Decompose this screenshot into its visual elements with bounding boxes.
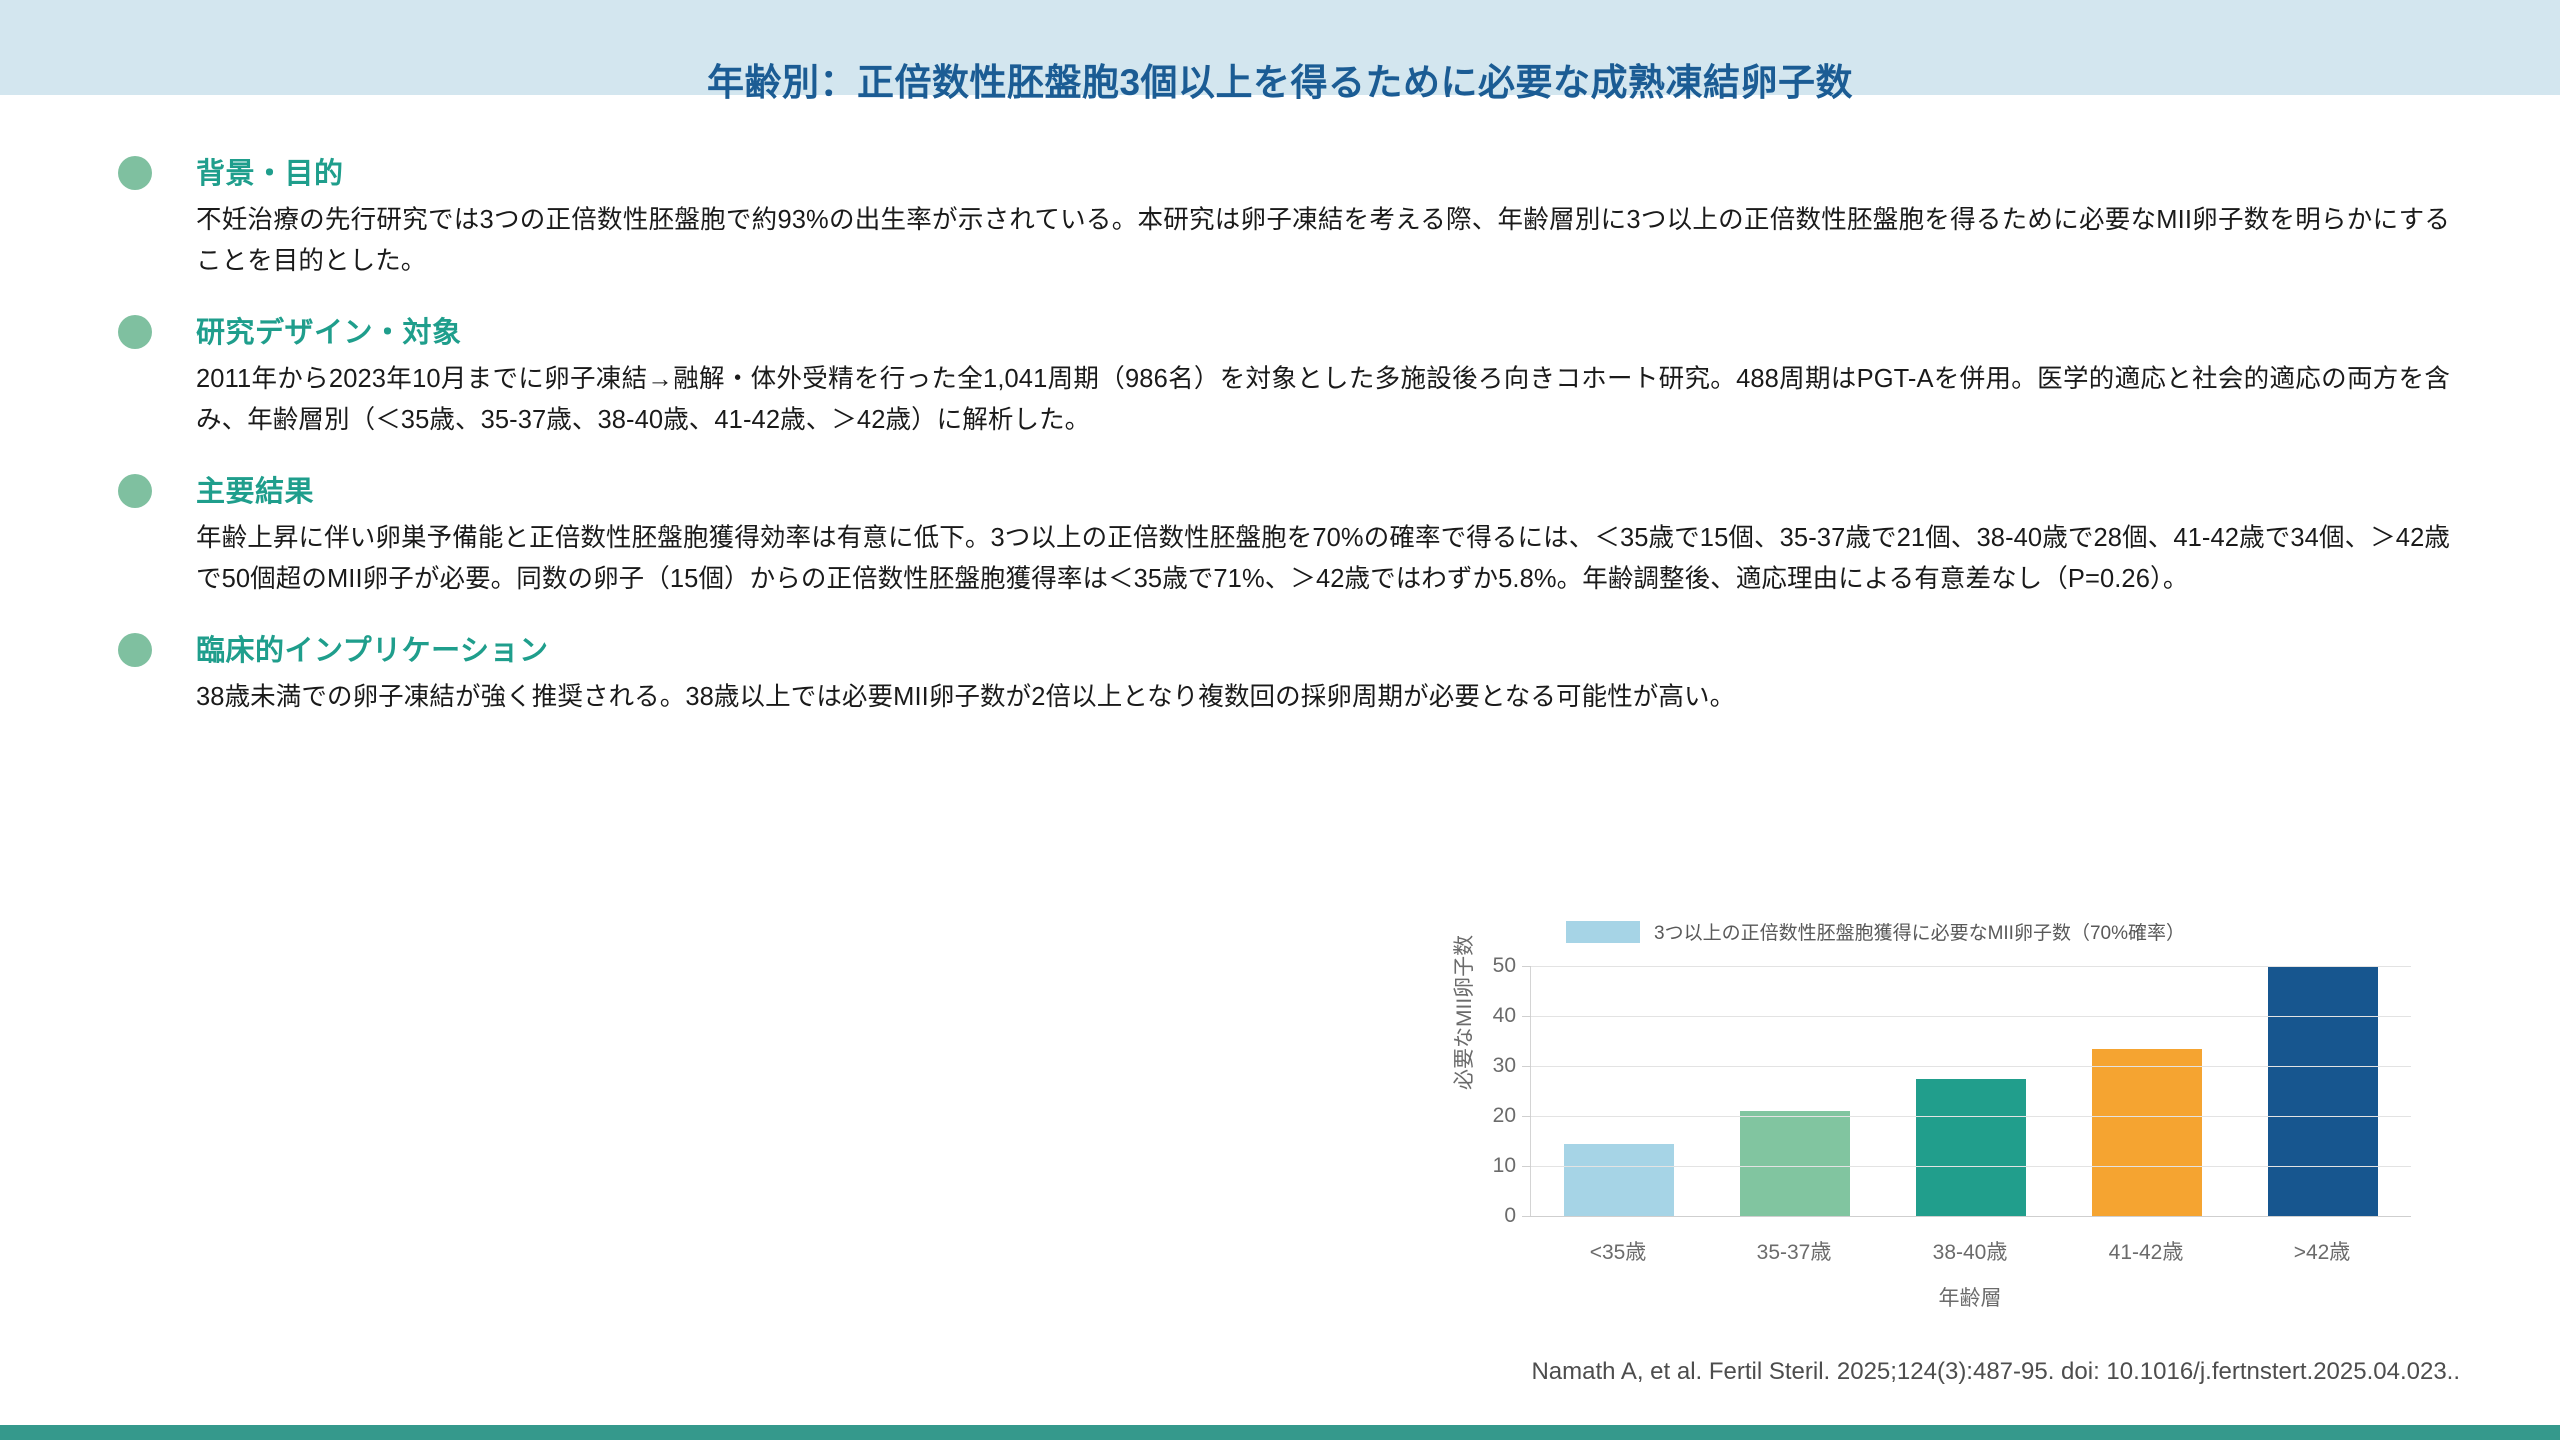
chart-y-tick-mark [1522,1116,1531,1117]
section-body: 38歳未満での卵子凍結が強く推奨される。38歳以上では必要MII卵子数が2倍以上… [196,677,2450,718]
sections-list: 背景・目的 不妊治療の先行研究では3つの正倍数性胚盤胞で約93%の出生率が示され… [0,150,2560,745]
bullet-dot-icon [118,474,152,508]
page-title: 年齢別：正倍数性胚盤胞3個以上を得るために必要な成熟凍結卵子数 [0,52,2560,106]
section-background: 背景・目的 不妊治療の先行研究では3つの正倍数性胚盤胞で約93%の出生率が示され… [0,150,2560,282]
chart-x-tick-label: >42歳 [2234,1236,2410,1266]
chart-gridline [1531,1216,2411,1217]
chart-gridline [1531,966,2411,967]
chart-bar [2092,1049,2201,1217]
chart-bar [2268,966,2377,1216]
legend-label: 3つ以上の正倍数性胚盤胞獲得に必要なMII卵子数（70%確率） [1654,918,2185,945]
section-title: 背景・目的 [196,150,344,192]
section-body: 不妊治療の先行研究では3つの正倍数性胚盤胞で約93%の出生率が示されている。本研… [196,200,2450,282]
legend-swatch-icon [1566,921,1640,943]
chart-y-tick-mark [1522,1166,1531,1167]
chart-gridline [1531,1116,2411,1117]
chart-y-tick-label: 40 [1493,1004,1516,1028]
section-results: 主要結果 年齢上昇に伴い卵巣予備能と正倍数性胚盤胞獲得効率は有意に低下。3つ以上… [0,468,2560,600]
section-body: 2011年から2023年10月までに卵子凍結→融解・体外受精を行った全1,041… [196,359,2450,441]
section-header: 背景・目的 [0,150,2560,196]
section-title: 臨床的インプリケーション [196,627,549,669]
bullet-dot-icon [118,315,152,349]
section-header: 臨床的インプリケーション [0,627,2560,673]
citation-text: Namath A, et al. Fertil Steril. 2025;124… [1531,1358,2460,1386]
section-header: 主要結果 [0,468,2560,514]
chart-y-tick-mark [1522,966,1531,967]
chart-x-tick-label: <35歳 [1530,1236,1706,1266]
chart-y-tick-label: 10 [1493,1154,1516,1178]
chart-x-tick-label: 41-42歳 [2058,1236,2234,1266]
chart-plot-area: 01020304050 [1530,966,2410,1216]
section-title: 研究デザイン・対象 [196,309,462,351]
chart-y-tick-mark [1522,1216,1531,1217]
chart-bar-slot [2059,966,2235,1216]
section-header: 研究デザイン・対象 [0,309,2560,355]
chart-y-tick-label: 50 [1493,954,1516,978]
chart-legend: 3つ以上の正倍数性胚盤胞獲得に必要なMII卵子数（70%確率） [1566,918,2185,945]
chart-y-tick-label: 30 [1493,1054,1516,1078]
chart-bar-slot [1707,966,1883,1216]
chart-y-tick-label: 0 [1504,1204,1516,1228]
section-body: 年齢上昇に伴い卵巣予備能と正倍数性胚盤胞獲得効率は有意に低下。3つ以上の正倍数性… [196,518,2450,600]
section-title: 主要結果 [196,468,314,510]
chart-y-tick-mark [1522,1066,1531,1067]
chart-y-tick-label: 20 [1493,1104,1516,1128]
chart-y-tick-mark [1522,1016,1531,1017]
chart-x-tick-label: 38-40歳 [1882,1236,2058,1266]
chart-x-tick-label: 35-37歳 [1706,1236,1882,1266]
chart-bar [1564,1144,1673,1217]
chart-gridline [1531,1016,2411,1017]
x-axis-title: 年齢層 [1530,1282,2410,1312]
chart-bars [1531,966,2411,1216]
bullet-dot-icon [118,156,152,190]
bar-chart: 3つ以上の正倍数性胚盤胞獲得に必要なMII卵子数（70%確率） 必要なMII卵子… [1352,918,2462,1338]
chart-bar-slot [1883,966,2059,1216]
section-design: 研究デザイン・対象 2011年から2023年10月までに卵子凍結→融解・体外受精… [0,309,2560,441]
bottom-accent-bar [0,1425,2560,1440]
chart-bar-slot [1531,966,1707,1216]
y-axis-title: 必要なMII卵子数 [1448,935,1478,1090]
bullet-dot-icon [118,633,152,667]
chart-gridline [1531,1166,2411,1167]
chart-gridline [1531,1066,2411,1067]
chart-bar [1740,1111,1849,1216]
chart-bar [1916,1079,2025,1217]
chart-bar-slot [2235,966,2411,1216]
chart-x-tick-labels: <35歳35-37歳38-40歳41-42歳>42歳 [1530,1236,2410,1266]
section-implication: 臨床的インプリケーション 38歳未満での卵子凍結が強く推奨される。38歳以上では… [0,627,2560,718]
